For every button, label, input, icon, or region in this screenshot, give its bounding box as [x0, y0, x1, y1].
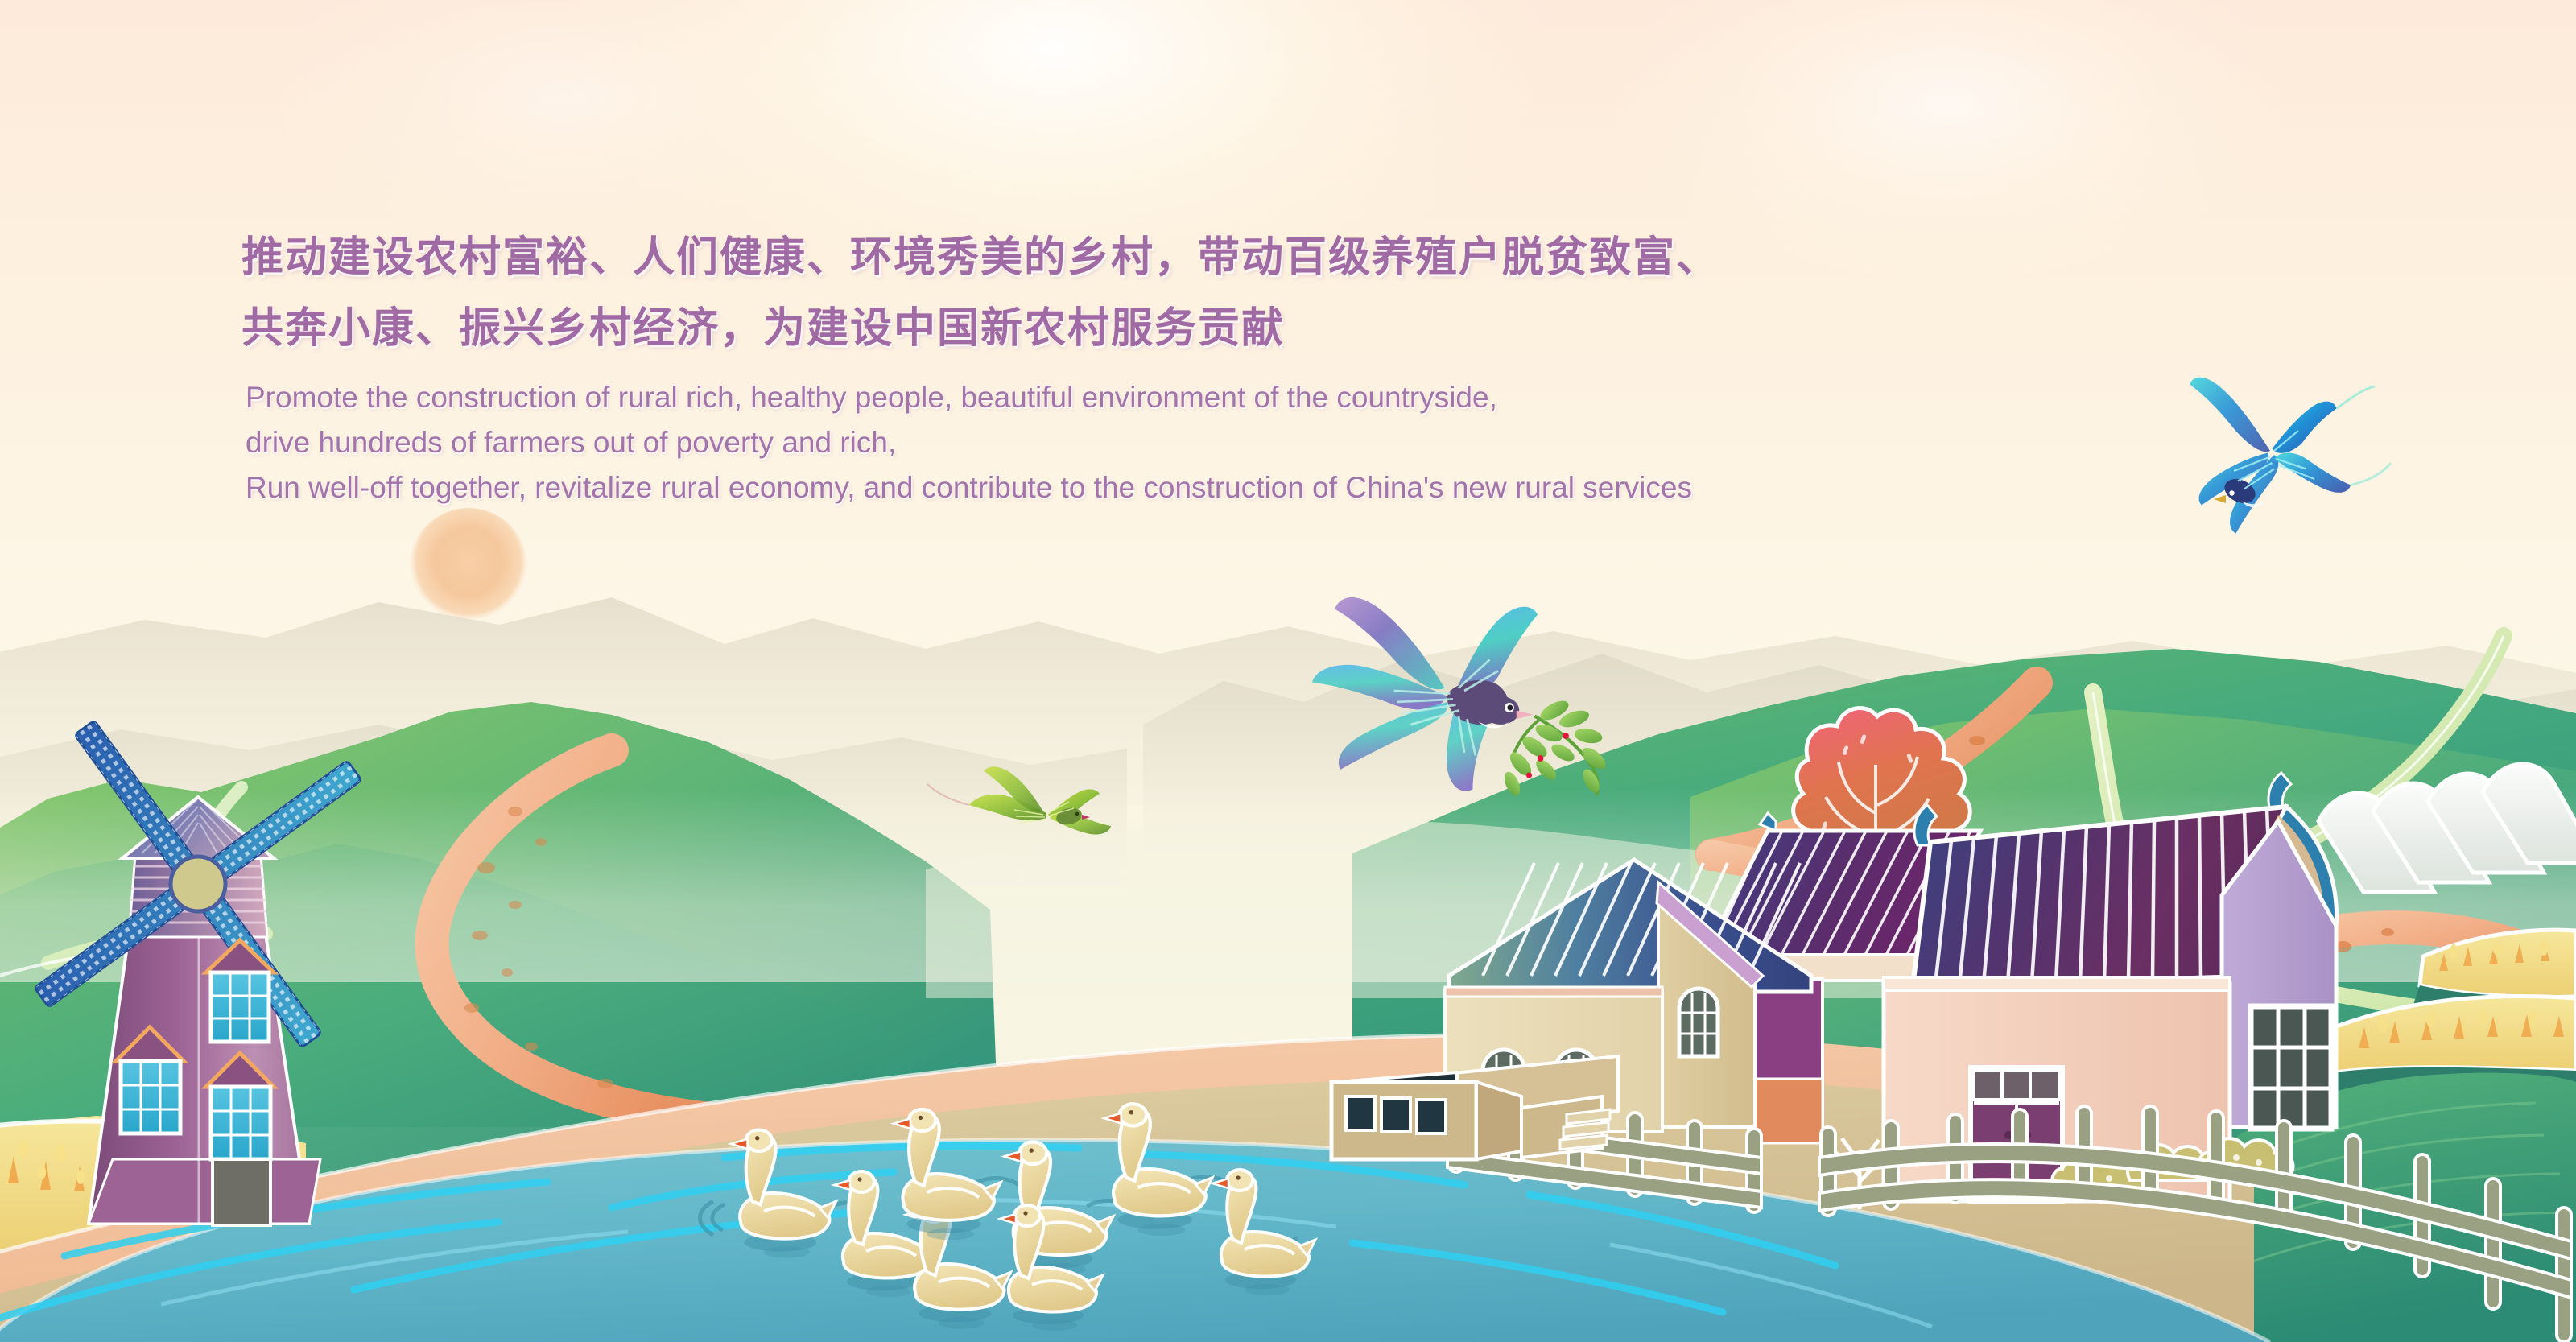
subhead-english: Promote the construction of rural rich, … [246, 375, 1692, 510]
headline-en-line-2: drive hundreds of farmers out of poverty… [246, 420, 1692, 465]
bird-blue-swallow [2190, 378, 2391, 534]
bird-purple-swallow-with-olive-branch [1312, 597, 1609, 798]
bird-green-swallow [927, 766, 1111, 834]
headline-en-line-3: Run well-off together, revitalize rural … [246, 465, 1692, 510]
headline-cn-line-1: 推动建设农村富裕、人们健康、环境秀美的乡村，带动百级养殖户脱贫致富、 [242, 222, 1719, 293]
headline-chinese: 推动建设农村富裕、人们健康、环境秀美的乡村，带动百级养殖户脱贫致富、 共奔小康、… [242, 222, 1719, 364]
headline-cn-line-2: 共奔小康、振兴乡村经济，为建设中国新农村服务贡献 [242, 293, 1719, 364]
poster-canvas: 推动建设农村富裕、人们健康、环境秀美的乡村，带动百级养殖户脱贫致富、 共奔小康、… [0, 0, 2576, 1342]
birds-layer [0, 0, 2576, 1342]
headline-en-line-1: Promote the construction of rural rich, … [246, 375, 1692, 420]
